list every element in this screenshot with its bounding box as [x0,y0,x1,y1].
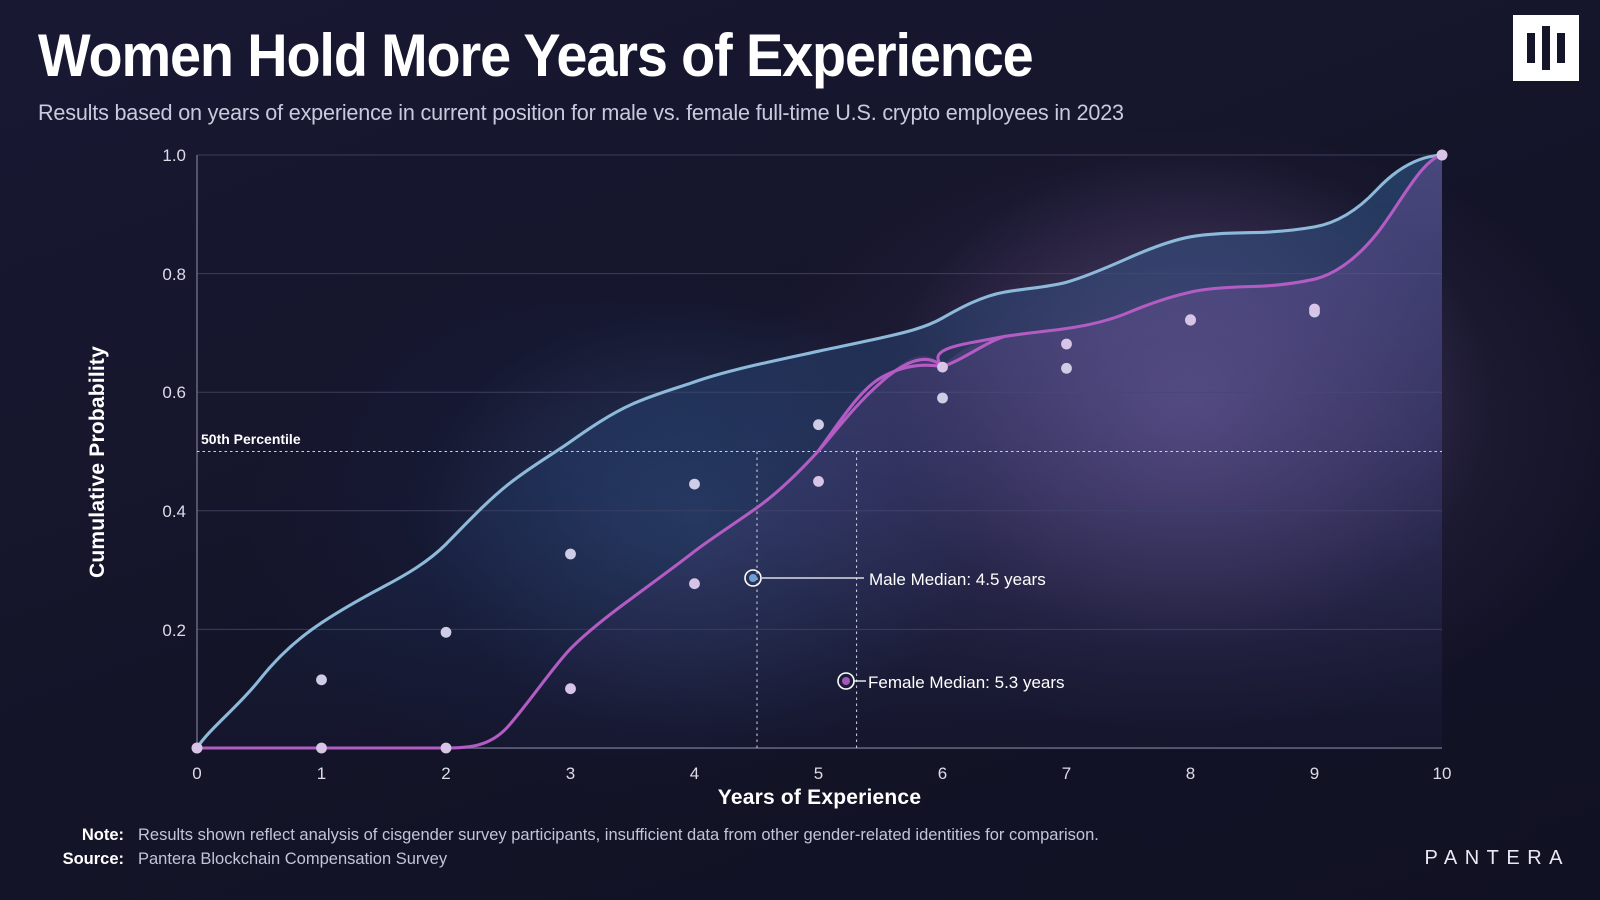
y-tick-labels: 1.0 0.8 0.6 0.4 0.2 [162,146,186,640]
footer: Note: Results shown reflect analysis of … [46,826,1099,874]
x-axis-label: Years of Experience [197,786,1442,810]
source-row: Source: Pantera Blockchain Compensation … [46,850,1099,869]
x-tick-8: 8 [1186,764,1195,783]
x-tick-9: 9 [1310,764,1319,783]
y-tick-1: 1.0 [162,146,186,165]
note-row: Note: Results shown reflect analysis of … [46,826,1099,845]
x-tick-3: 3 [566,764,575,783]
y-axis-label: Cumulative Probability [86,302,110,622]
note-key: Note: [46,826,124,845]
source-key: Source: [46,850,124,869]
x-tick-10: 10 [1433,764,1452,783]
y-tick-02: 0.2 [162,621,186,640]
y-tick-04: 0.4 [162,502,186,521]
y-tick-08: 0.8 [162,265,186,284]
male-median-label: Male Median: 4.5 years [869,570,1046,589]
pantera-wordmark: PANTERA [1425,847,1570,870]
female-median-label: Female Median: 5.3 years [868,673,1065,692]
x-tick-6: 6 [938,764,947,783]
note-value: Results shown reflect analysis of cisgen… [138,826,1099,845]
y-tick-06: 0.6 [162,383,186,402]
chart-area: 50th Percentile [0,0,1600,900]
female-median-annotation[interactable]: Female Median: 5.3 years [838,673,1065,692]
cumulative-probability-chart: 50th Percentile [0,0,1600,900]
x-tick-1: 1 [317,764,326,783]
fiftieth-percentile-label: 50th Percentile [201,431,301,447]
x-tick-5: 5 [814,764,823,783]
x-tick-4: 4 [690,764,699,783]
chart-page: Women Hold More Years of Experience Resu… [0,0,1600,900]
x-tick-labels: 0 1 2 3 4 5 6 7 8 9 10 [192,764,1451,783]
x-tick-2: 2 [441,764,450,783]
source-value: Pantera Blockchain Compensation Survey [138,850,447,869]
x-tick-0: 0 [192,764,201,783]
x-tick-7: 7 [1062,764,1071,783]
